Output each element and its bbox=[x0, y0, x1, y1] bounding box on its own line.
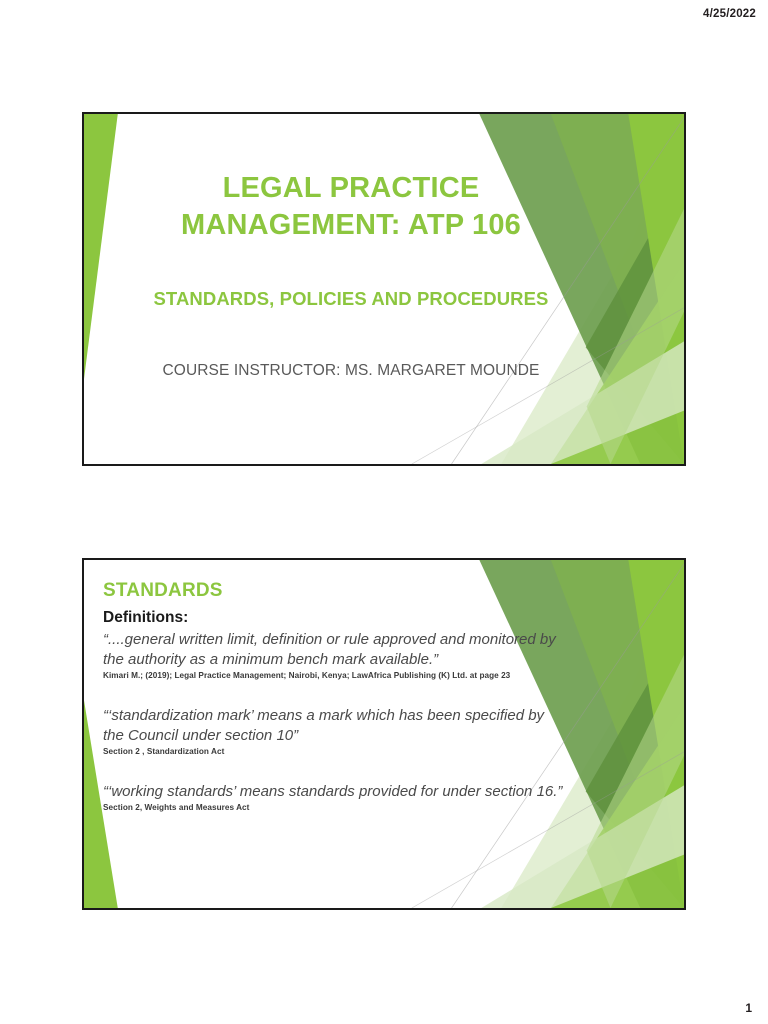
standards-heading: STANDARDS bbox=[103, 580, 566, 602]
definitions-label: Definitions: bbox=[103, 609, 566, 627]
quote-citation-1: Kimari M.; (2019); Legal Practice Manage… bbox=[103, 671, 566, 680]
slide-title: LEGAL PRACTICE MANAGEMENT: ATP 106 STAND… bbox=[82, 112, 686, 466]
slide-title-content: LEGAL PRACTICE MANAGEMENT: ATP 106 STAND… bbox=[84, 114, 684, 464]
quote-citation-2: Section 2 , Standardization Act bbox=[103, 747, 566, 756]
title-line-2: MANAGEMENT: ATP 106 bbox=[138, 207, 564, 244]
quote-text-3: “‘working standards’ means standards pro… bbox=[103, 782, 566, 802]
title-line-1: LEGAL PRACTICE bbox=[138, 170, 564, 207]
quote-citation-3: Section 2, Weights and Measures Act bbox=[103, 803, 566, 812]
quote-block-1: “....general written limit, definition o… bbox=[103, 630, 566, 680]
quote-block-2: “‘standardization mark’ means a mark whi… bbox=[103, 706, 566, 756]
slide-standards: STANDARDS Definitions: “....general writ… bbox=[82, 558, 686, 910]
slide-standards-content: STANDARDS Definitions: “....general writ… bbox=[84, 560, 684, 908]
slide-subtitle: STANDARDS, POLICIES AND PROCEDURES bbox=[138, 288, 564, 310]
quote-block-3: “‘working standards’ means standards pro… bbox=[103, 782, 566, 812]
quote-text-2: “‘standardization mark’ means a mark whi… bbox=[103, 706, 566, 746]
page-date: 4/25/2022 bbox=[703, 8, 756, 20]
slide-instructor: COURSE INSTRUCTOR: MS. MARGARET MOUNDE bbox=[138, 362, 564, 380]
quote-text-1: “....general written limit, definition o… bbox=[103, 630, 566, 670]
page-number: 1 bbox=[745, 1001, 752, 1015]
slide-title-heading: LEGAL PRACTICE MANAGEMENT: ATP 106 bbox=[138, 170, 564, 244]
